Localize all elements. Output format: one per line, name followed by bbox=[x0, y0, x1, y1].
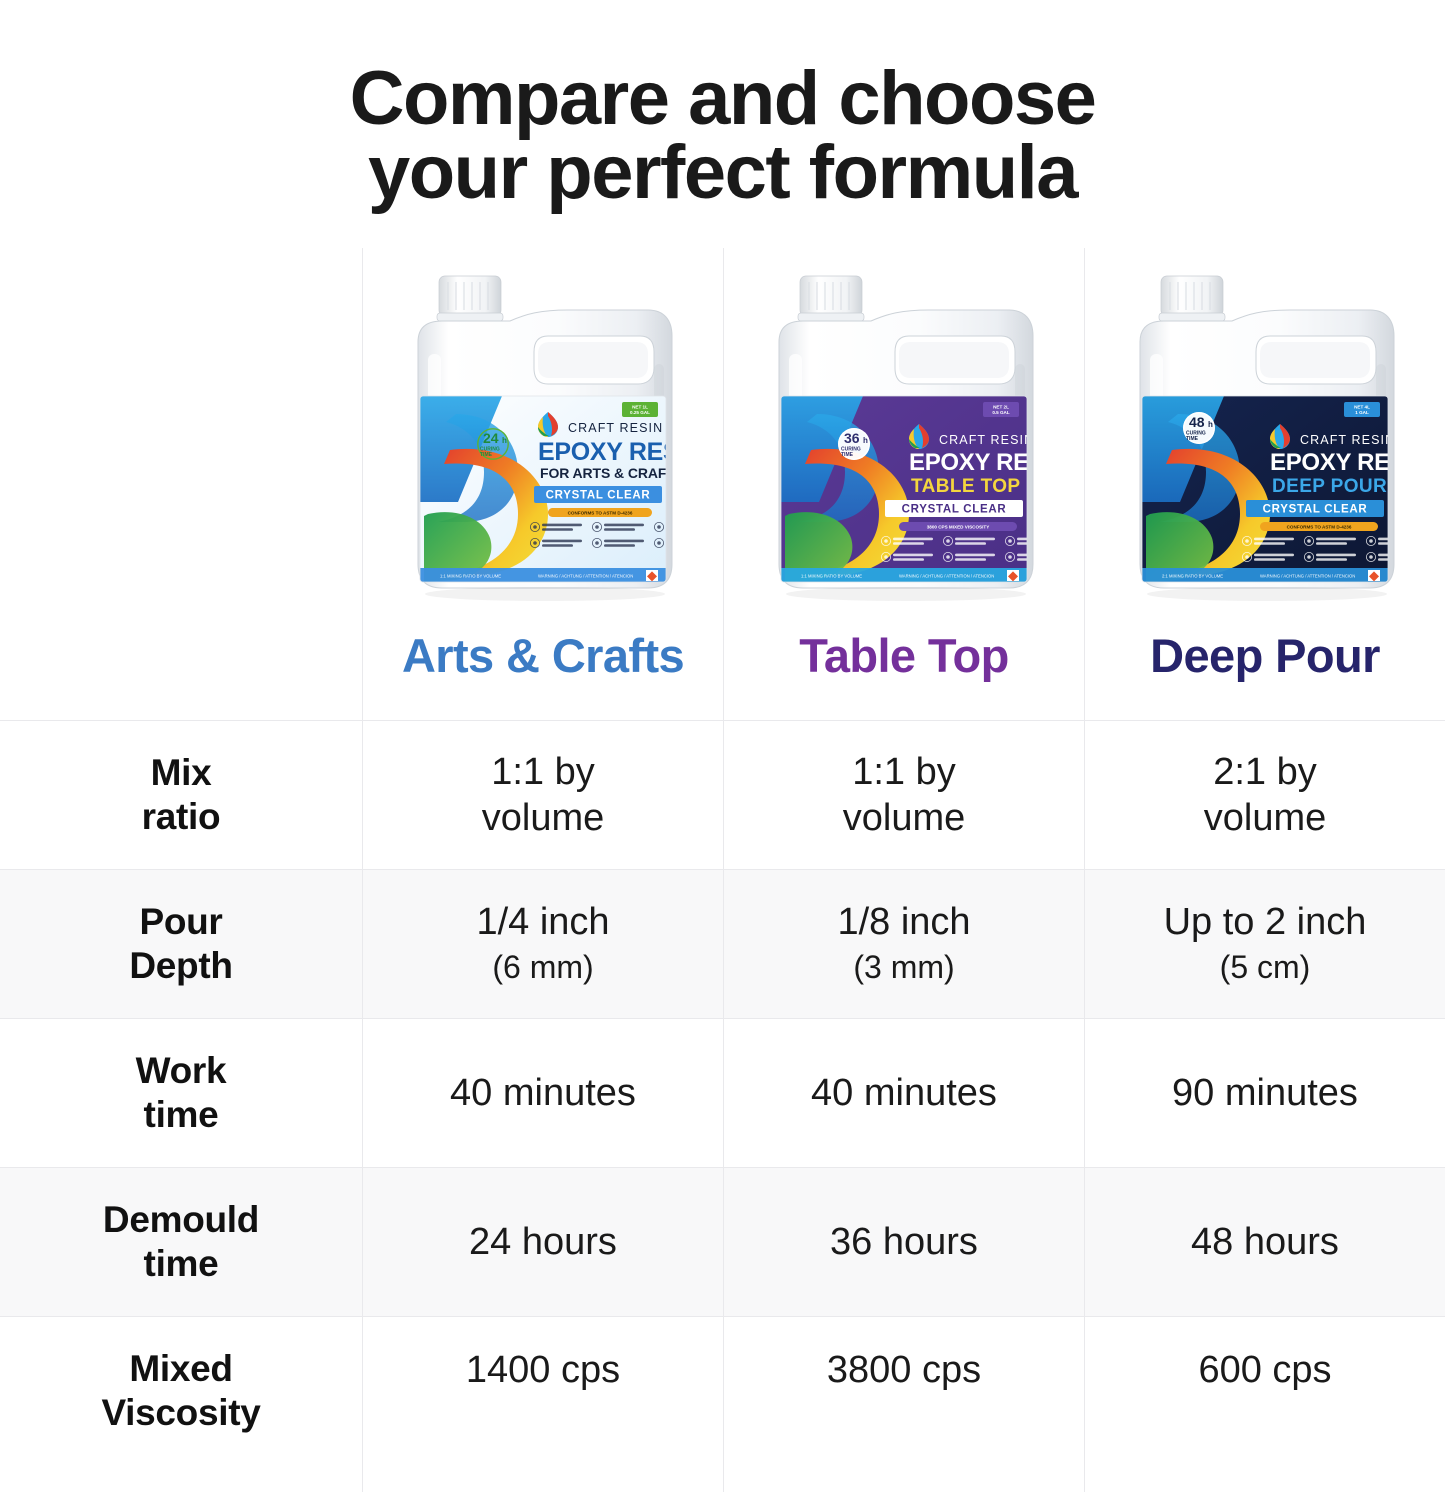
cell-mix-ratio-deep-pour: 2:1 byvolume bbox=[1084, 721, 1445, 869]
cell-value: 2:1 by bbox=[1213, 751, 1317, 793]
row-label-line-2: time bbox=[144, 1094, 219, 1135]
table-row: MixedViscosity1400 cps3800 cps600 cps bbox=[0, 1316, 1445, 1492]
row-label-mix-ratio: Mixratio bbox=[0, 721, 362, 869]
bottle-image-table-top: 36 h CURING TIME NET 2L 0.5 GAL CRAFT RE… bbox=[759, 264, 1049, 614]
svg-text:TIME: TIME bbox=[480, 452, 493, 458]
cell-value-sub: (3 mm) bbox=[837, 947, 970, 989]
svg-text:3800 CPS MIXED VISCOSITY: 3800 CPS MIXED VISCOSITY bbox=[927, 525, 990, 530]
svg-text:1:1 MIXING RATIO BY VOLUME: 1:1 MIXING RATIO BY VOLUME bbox=[440, 573, 501, 578]
table-row: Mixratio1:1 byvolume1:1 byvolume2:1 byvo… bbox=[0, 720, 1445, 869]
cell-value-line-2: volume bbox=[843, 797, 966, 839]
svg-text:48: 48 bbox=[1189, 414, 1205, 430]
svg-text:CONFORMS TO ASTM D-4236: CONFORMS TO ASTM D-4236 bbox=[568, 511, 633, 516]
svg-text:CRYSTAL CLEAR: CRYSTAL CLEAR bbox=[902, 503, 1007, 515]
cell-value: 600 cps bbox=[1198, 1349, 1331, 1391]
table-row: PourDepth1/4 inch(6 mm)1/8 inch(3 mm)Up … bbox=[0, 869, 1445, 1018]
cell-value: Up to 2 inch bbox=[1164, 901, 1367, 943]
svg-text:TIME: TIME bbox=[841, 452, 854, 458]
svg-text:h: h bbox=[1208, 420, 1213, 429]
table-row: Demouldtime24 hours36 hours48 hours bbox=[0, 1167, 1445, 1316]
product-header-row: 24 h CURING TIME NET 1L 0.25 GAL CRAFT R… bbox=[0, 248, 1445, 720]
row-label-line-2: Viscosity bbox=[101, 1392, 260, 1433]
cell-value: 36 hours bbox=[830, 1221, 978, 1263]
svg-text:NET 1L: NET 1L bbox=[632, 405, 648, 410]
svg-text:EPOXY RESIN: EPOXY RESIN bbox=[538, 438, 688, 466]
cell-value: 1:1 by bbox=[852, 751, 956, 793]
row-label-line-1: Demould bbox=[103, 1199, 259, 1240]
cell-pour-depth-deep-pour: Up to 2 inch(5 cm) bbox=[1084, 870, 1445, 1018]
product-column-deep-pour[interactable]: 48 h CURING TIME NET 4L 1 GAL CRAFT RESI… bbox=[1084, 248, 1445, 720]
svg-text:1:1 MIXING RATIO BY VOLUME: 1:1 MIXING RATIO BY VOLUME bbox=[801, 573, 862, 578]
cell-value: 40 minutes bbox=[811, 1072, 997, 1114]
row-label-line-2: ratio bbox=[142, 796, 221, 837]
cell-value: 24 hours bbox=[469, 1221, 617, 1263]
product-name-arts-crafts: Arts & Crafts bbox=[402, 628, 684, 683]
cell-mix-ratio-table-top: 1:1 byvolume bbox=[723, 721, 1084, 869]
svg-text:CRAFT RESIN: CRAFT RESIN bbox=[568, 421, 663, 435]
cell-mixed-viscosity-deep-pour: 600 cps bbox=[1084, 1317, 1445, 1492]
cell-value: 48 hours bbox=[1191, 1221, 1339, 1263]
svg-text:TABLE TOP: TABLE TOP bbox=[911, 476, 1021, 497]
svg-text:WARNING / ACHTUNG / ATTENTION: WARNING / ACHTUNG / ATTENTION / ATENCION bbox=[538, 573, 633, 578]
spec-rows: Mixratio1:1 byvolume1:1 byvolume2:1 byvo… bbox=[0, 720, 1445, 1492]
cell-value-sub: (5 cm) bbox=[1164, 947, 1367, 989]
svg-text:NET 4L: NET 4L bbox=[1354, 405, 1370, 410]
svg-text:36: 36 bbox=[844, 430, 860, 446]
cell-value: 1/8 inch bbox=[837, 901, 970, 943]
row-label-line-2: Depth bbox=[129, 945, 232, 986]
product-name-deep-pour: Deep Pour bbox=[1150, 628, 1380, 683]
svg-text:24: 24 bbox=[483, 430, 499, 446]
cell-mixed-viscosity-table-top: 3800 cps bbox=[723, 1317, 1084, 1492]
svg-text:0.5 GAL: 0.5 GAL bbox=[992, 410, 1010, 415]
cell-value-sub: (6 mm) bbox=[476, 947, 609, 989]
header-spacer-cell bbox=[0, 248, 362, 720]
cell-work-time-table-top: 40 minutes bbox=[723, 1019, 1084, 1167]
svg-text:FOR ARTS & CRAFTS: FOR ARTS & CRAFTS bbox=[540, 465, 684, 481]
svg-text:NET 2L: NET 2L bbox=[993, 405, 1009, 410]
cell-value: 1:1 by bbox=[491, 751, 595, 793]
cell-value: 1/4 inch bbox=[476, 901, 609, 943]
cell-value: 40 minutes bbox=[450, 1072, 636, 1114]
svg-text:TIME: TIME bbox=[1186, 436, 1199, 442]
page-title-line-1: Compare and choose bbox=[0, 62, 1445, 136]
cell-mix-ratio-arts-crafts: 1:1 byvolume bbox=[362, 721, 723, 869]
svg-text:DEEP POUR: DEEP POUR bbox=[1272, 476, 1387, 497]
svg-text:CONFORMS TO ASTM D-4236: CONFORMS TO ASTM D-4236 bbox=[1287, 525, 1352, 530]
cell-value-line-2: volume bbox=[482, 797, 605, 839]
product-column-arts-crafts[interactable]: 24 h CURING TIME NET 1L 0.25 GAL CRAFT R… bbox=[362, 248, 723, 720]
table-row: Worktime40 minutes40 minutes90 minutes bbox=[0, 1018, 1445, 1167]
cell-demould-time-arts-crafts: 24 hours bbox=[362, 1168, 723, 1316]
comparison-table: 24 h CURING TIME NET 1L 0.25 GAL CRAFT R… bbox=[0, 248, 1445, 1492]
bottle-image-deep-pour: 48 h CURING TIME NET 4L 1 GAL CRAFT RESI… bbox=[1120, 264, 1410, 614]
row-label-pour-depth: PourDepth bbox=[0, 870, 362, 1018]
cell-demould-time-deep-pour: 48 hours bbox=[1084, 1168, 1445, 1316]
cell-value: 90 minutes bbox=[1172, 1072, 1358, 1114]
svg-text:CRAFT RESIN: CRAFT RESIN bbox=[939, 433, 1034, 447]
cell-work-time-arts-crafts: 40 minutes bbox=[362, 1019, 723, 1167]
row-label-line-1: Pour bbox=[139, 901, 222, 942]
row-label-line-1: Work bbox=[136, 1050, 227, 1091]
svg-text:h: h bbox=[502, 436, 507, 445]
product-name-table-top: Table Top bbox=[799, 628, 1009, 683]
cell-pour-depth-table-top: 1/8 inch(3 mm) bbox=[723, 870, 1084, 1018]
page-title: Compare and choose your perfect formula bbox=[0, 0, 1445, 209]
row-label-line-1: Mix bbox=[151, 752, 212, 793]
cell-work-time-deep-pour: 90 minutes bbox=[1084, 1019, 1445, 1167]
svg-text:2:1 MIXING RATIO BY VOLUME: 2:1 MIXING RATIO BY VOLUME bbox=[1162, 573, 1223, 578]
row-label-line-1: Mixed bbox=[129, 1348, 232, 1389]
row-label-line-2: time bbox=[144, 1243, 219, 1284]
bottle-image-arts-crafts: 24 h CURING TIME NET 1L 0.25 GAL CRAFT R… bbox=[398, 264, 688, 614]
cell-value-line-2: volume bbox=[1204, 797, 1327, 839]
product-column-table-top[interactable]: 36 h CURING TIME NET 2L 0.5 GAL CRAFT RE… bbox=[723, 248, 1084, 720]
cell-pour-depth-arts-crafts: 1/4 inch(6 mm) bbox=[362, 870, 723, 1018]
svg-text:1 GAL: 1 GAL bbox=[1355, 410, 1369, 415]
svg-text:0.25 GAL: 0.25 GAL bbox=[630, 410, 650, 415]
svg-text:WARNING / ACHTUNG / ATTENTION: WARNING / ACHTUNG / ATTENTION / ATENCION bbox=[899, 573, 994, 578]
cell-mixed-viscosity-arts-crafts: 1400 cps bbox=[362, 1317, 723, 1492]
row-label-demould-time: Demouldtime bbox=[0, 1168, 362, 1316]
page-title-line-2: your perfect formula bbox=[0, 136, 1445, 210]
svg-text:h: h bbox=[863, 436, 868, 445]
cell-value: 3800 cps bbox=[827, 1349, 981, 1391]
row-label-work-time: Worktime bbox=[0, 1019, 362, 1167]
cell-value: 1400 cps bbox=[466, 1349, 620, 1391]
cell-demould-time-table-top: 36 hours bbox=[723, 1168, 1084, 1316]
svg-text:WARNING / ACHTUNG / ATTENTION: WARNING / ACHTUNG / ATTENTION / ATENCION bbox=[1260, 573, 1355, 578]
row-label-mixed-viscosity: MixedViscosity bbox=[0, 1317, 362, 1492]
svg-text:CRYSTAL CLEAR: CRYSTAL CLEAR bbox=[1263, 503, 1368, 515]
svg-text:CRAFT RESIN: CRAFT RESIN bbox=[1300, 433, 1395, 447]
svg-text:CRYSTAL CLEAR: CRYSTAL CLEAR bbox=[546, 489, 651, 501]
